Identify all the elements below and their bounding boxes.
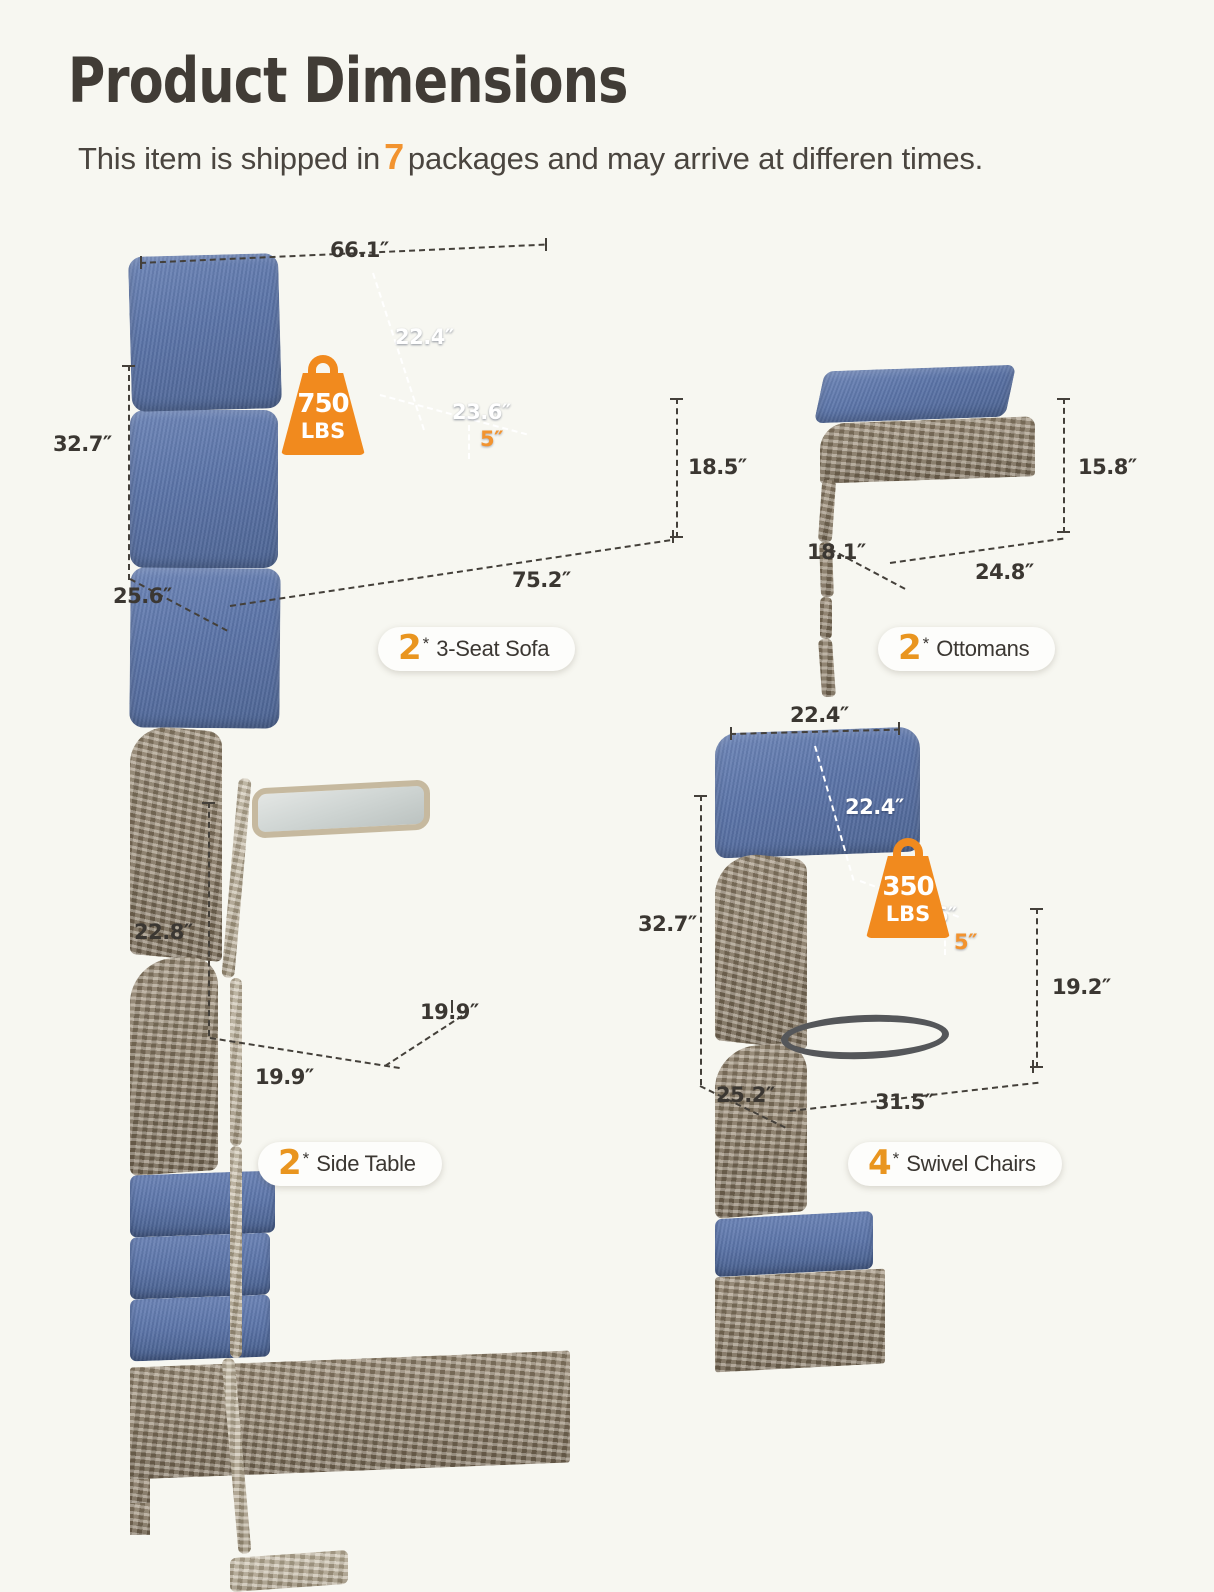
chair-back-width-cap-right <box>898 722 900 735</box>
chair-base <box>715 1269 885 1373</box>
sofa-weight-badge: 750 LBS <box>281 355 365 455</box>
side-table-star: * <box>303 1149 310 1169</box>
chair-seat-cushion <box>715 1211 873 1277</box>
sofa-dim-5: 5″ <box>480 427 503 451</box>
sofa-base <box>130 1351 570 1480</box>
side-table-height-line <box>208 802 210 1036</box>
chair-dim-32-7: 32.7″ <box>638 912 697 936</box>
sofa-height-cap-top <box>122 365 135 367</box>
ottoman-cushion <box>814 365 1016 424</box>
sofa-weight-value: 750 <box>281 389 365 419</box>
chair-height-line <box>700 795 702 1085</box>
shipping-note-prefix: This item is shipped in <box>78 141 380 176</box>
side-table-qty: 2 <box>278 1146 302 1180</box>
sofa-overall-width-cap-right <box>672 530 674 543</box>
package-count: 7 <box>380 136 408 177</box>
chair-right-arm <box>715 1041 807 1219</box>
ottoman-qty: 2 <box>898 631 922 665</box>
chair-weight-badge: 350 LBS <box>866 838 950 938</box>
ottoman-star: * <box>923 634 930 654</box>
shipping-note: This item is shipped in7packages and may… <box>78 136 983 178</box>
chair-left-arm <box>715 850 807 1050</box>
chair-dim-5: 5″ <box>954 930 977 954</box>
chair-weight-value: 350 <box>866 872 950 902</box>
swivel-chair-caption-pill: 4 * Swivel Chairs <box>848 1142 1062 1186</box>
swivel-chair-star: * <box>893 1149 900 1169</box>
page-title: Product Dimensions <box>68 44 628 117</box>
ottoman-height-cap-bottom <box>1057 531 1070 533</box>
sofa-thickness-line <box>468 425 470 459</box>
side-table-label: Side Table <box>316 1151 415 1177</box>
chair-dim-22-4-depth: 22.4″ <box>845 795 904 819</box>
sofa-dim-32-7: 32.7″ <box>53 432 112 456</box>
sofa-leg-right <box>130 1503 150 1535</box>
sofa-back-cushion-middle <box>130 410 278 568</box>
side-table-leg-back-right <box>230 1146 242 1358</box>
sofa-seat-cushion-left <box>130 1170 275 1237</box>
ottoman-caption-pill: 2 * Ottomans <box>878 627 1055 671</box>
sofa-width-top-cap-left <box>140 256 142 269</box>
ottoman-leg-front-left <box>818 480 836 543</box>
sofa-width-top-cap-right <box>545 238 547 251</box>
shipping-note-suffix: packages and may arrive at differen time… <box>408 141 983 176</box>
chair-height-cap-top <box>694 795 707 797</box>
side-table-dim-19-9-front: 19.9″ <box>255 1065 314 1089</box>
chair-overall-width-cap-right <box>1032 1060 1034 1073</box>
sofa-label: 3-Seat Sofa <box>436 636 549 662</box>
sofa-seat-height-line <box>676 398 678 538</box>
sofa-dim-66: 66.1″ <box>330 238 389 262</box>
sofa-dim-18-5: 18.5″ <box>688 455 747 479</box>
chair-seat-height-line <box>1036 908 1038 1068</box>
chair-weight-unit: LBS <box>866 902 950 926</box>
side-table-glass-top <box>252 779 430 838</box>
sofa-dim-25-6: 25.6″ <box>113 584 172 608</box>
ottoman-leg-back-right <box>818 639 836 698</box>
ottoman-label: Ottomans <box>936 636 1029 662</box>
sofa-back-cushion-left <box>128 253 282 412</box>
sofa-dim-22-4: 22.4″ <box>395 325 454 349</box>
sofa-seat-cushion-middle <box>130 1233 270 1300</box>
ottoman-height-line <box>1063 398 1065 533</box>
sofa-dim-75-2: 75.2″ <box>512 568 571 592</box>
chair-back-width-cap-left <box>730 727 732 740</box>
side-table-dim-19-9-side: 19.9″ <box>420 1000 479 1024</box>
chair-dim-25-2: 25.2″ <box>716 1083 775 1107</box>
sofa-caption-pill: 2 * 3-Seat Sofa <box>378 627 575 671</box>
side-table-lower-shelf <box>230 1550 348 1592</box>
chair-seat-height-cap-top <box>1030 908 1043 910</box>
sofa-right-arm <box>130 955 218 1176</box>
ottoman-dim-15-8: 15.8″ <box>1078 455 1137 479</box>
sofa-seat-cushion-right <box>130 1295 270 1362</box>
swivel-chair-label: Swivel Chairs <box>906 1151 1035 1177</box>
sofa-height-line <box>128 365 130 580</box>
sofa-qty: 2 <box>398 631 422 665</box>
sofa-seat-height-cap-top <box>670 398 683 400</box>
sofa-weight-unit: LBS <box>281 419 365 443</box>
chair-dim-19-2: 19.2″ <box>1052 975 1111 999</box>
side-table-height-cap-top <box>202 802 215 804</box>
sofa-dim-23-6: 23.6″ <box>452 400 511 424</box>
swivel-chair-qty: 4 <box>868 1146 892 1180</box>
ottoman-dim-18-1: 18.1″ <box>807 540 866 564</box>
side-table-leg-front-left <box>221 778 251 978</box>
side-table-dim-22-8: 22.8″ <box>134 920 193 944</box>
side-table-caption-pill: 2 * Side Table <box>258 1142 442 1186</box>
ottoman-height-cap-top <box>1057 398 1070 400</box>
ottoman-leg-back-middle <box>820 597 832 639</box>
ottoman-dim-24-8: 24.8″ <box>975 560 1034 584</box>
chair-dim-31-5: 31.5″ <box>875 1090 934 1114</box>
ottoman-illustration <box>820 368 1070 538</box>
ottoman-frame <box>820 416 1035 484</box>
chair-dim-22-4-width: 22.4″ <box>790 703 849 727</box>
side-table-illustration <box>230 778 460 1068</box>
sofa-star: * <box>423 634 430 654</box>
side-table-leg-center <box>230 978 242 1146</box>
